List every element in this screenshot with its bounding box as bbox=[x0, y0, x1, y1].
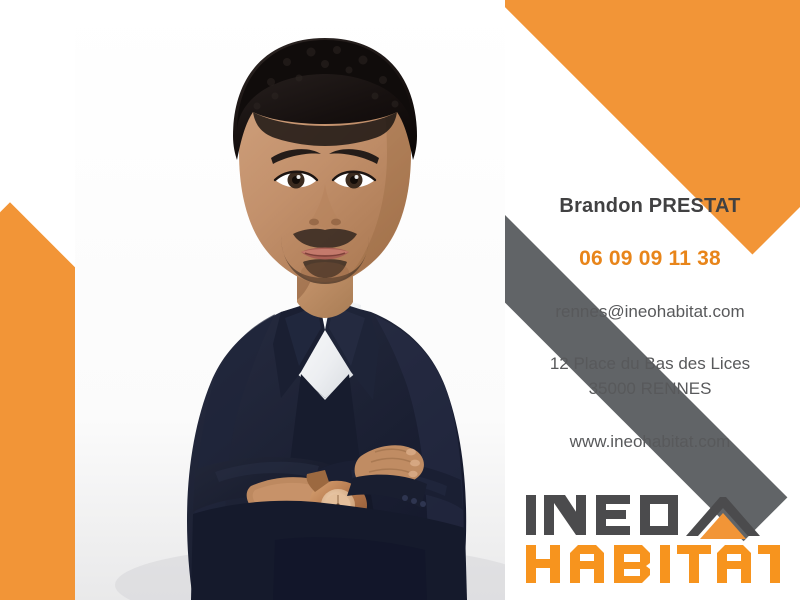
contact-address: 12 Place du Bas des Lices 35000 RENNES bbox=[500, 352, 800, 401]
business-card: Brandon PRESTAT 06 09 09 11 38 rennes@in… bbox=[0, 0, 800, 600]
contact-phone[interactable]: 06 09 09 11 38 bbox=[500, 247, 800, 270]
address-line-1: 12 Place du Bas des Lices bbox=[550, 354, 750, 373]
logo-word-habitat bbox=[526, 545, 780, 583]
contact-info: Brandon PRESTAT 06 09 09 11 38 rennes@in… bbox=[500, 195, 800, 452]
contact-name: Brandon PRESTAT bbox=[500, 195, 800, 217]
contact-email[interactable]: rennes@ineohabitat.com bbox=[500, 302, 800, 322]
portrait-photo bbox=[75, 0, 505, 600]
house-roof-chevron-icon bbox=[686, 497, 760, 539]
contact-website[interactable]: www.ineohabitat.com bbox=[500, 432, 800, 452]
ineo-habitat-logo bbox=[520, 487, 780, 587]
logo-word-ineo bbox=[526, 495, 678, 535]
portrait-area bbox=[75, 0, 505, 600]
address-line-2: 35000 RENNES bbox=[589, 379, 712, 398]
